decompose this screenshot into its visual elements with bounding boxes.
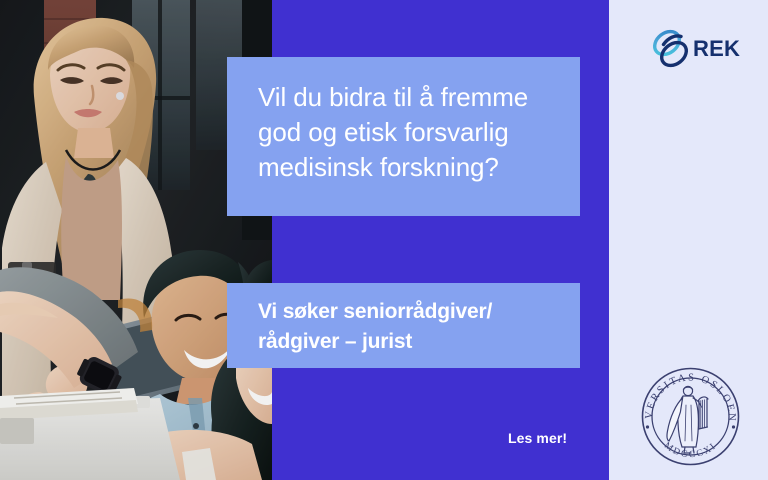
role-text: Vi søker seniorrådgiver/ rådgiver – juri… (258, 297, 570, 357)
rek-interlocking-rings-logo (650, 27, 692, 71)
rek-logo[interactable]: REK (650, 26, 736, 72)
headline-overlay-box: Vil du bidra til å fremme god og etisk f… (227, 57, 580, 216)
rek-wordmark: REK (693, 38, 740, 60)
role-overlay-box: Vi søker seniorrådgiver/ rådgiver – juri… (227, 283, 580, 368)
read-more-link[interactable]: Les mer! (508, 430, 567, 446)
headline-line-3: medisinsk forskning? (258, 152, 499, 182)
role-line-2: rådgiver – jurist (258, 330, 412, 353)
rek-recruitment-banner: Vil du bidra til å fremme god og etisk f… (0, 0, 768, 480)
headline-line-2: god og etisk forsvarlig (258, 117, 509, 147)
uio-apollo-seal: UNIVERSITAS OSLOENSIS MDCCCXI (639, 365, 742, 468)
role-line-1: Vi søker seniorrådgiver/ (258, 300, 492, 323)
headline-text: Vil du bidra til å fremme god og etisk f… (258, 80, 568, 185)
headline-line-1: Vil du bidra til å fremme (258, 82, 528, 112)
